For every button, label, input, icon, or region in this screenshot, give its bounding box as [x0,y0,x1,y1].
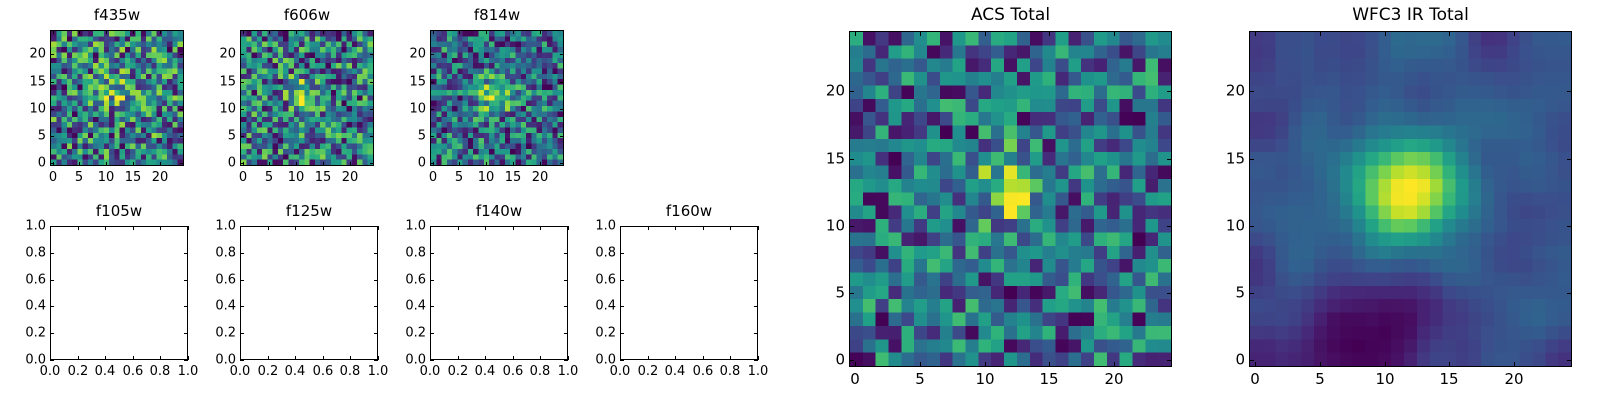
xtick-mark-top [1320,31,1321,36]
xtick-mark [1514,362,1515,367]
plot-area-large-wfc3[interactable] [1249,31,1572,367]
panel-large-wfc3: WFC3 IR Total0510152005101520 [0,0,1600,400]
figure-canvas: f435w0510152005101520f606w05101520051015… [0,0,1600,400]
ytick-label: 5 [1207,286,1245,301]
ytick-label: 15 [1207,152,1245,167]
xtick-label: 15 [1439,372,1458,387]
xtick-label: 5 [1315,372,1325,387]
heatmap-image-large-wfc3 [1250,32,1571,366]
ytick-mark-right [1567,91,1572,92]
ytick-mark-right [1567,226,1572,227]
xtick-mark-top [1255,31,1256,36]
xtick-mark-top [1514,31,1515,36]
ytick-mark-right [1567,360,1572,361]
ytick-mark [1249,360,1254,361]
xtick-label: 10 [1375,372,1394,387]
xtick-label: 0 [1250,372,1260,387]
ytick-mark [1249,91,1254,92]
ytick-label: 0 [1207,353,1245,368]
xtick-label: 20 [1504,372,1523,387]
ytick-label: 10 [1207,219,1245,234]
ytick-label: 20 [1207,84,1245,99]
xtick-mark [1255,362,1256,367]
panel-title-large-wfc3: WFC3 IR Total [1249,7,1572,24]
ytick-mark [1249,159,1254,160]
ytick-mark-right [1567,159,1572,160]
xtick-mark-top [1449,31,1450,36]
xtick-mark [1449,362,1450,367]
ytick-mark [1249,293,1254,294]
xtick-mark [1385,362,1386,367]
xtick-mark-top [1385,31,1386,36]
ytick-mark-right [1567,293,1572,294]
ytick-mark [1249,226,1254,227]
xtick-mark [1320,362,1321,367]
